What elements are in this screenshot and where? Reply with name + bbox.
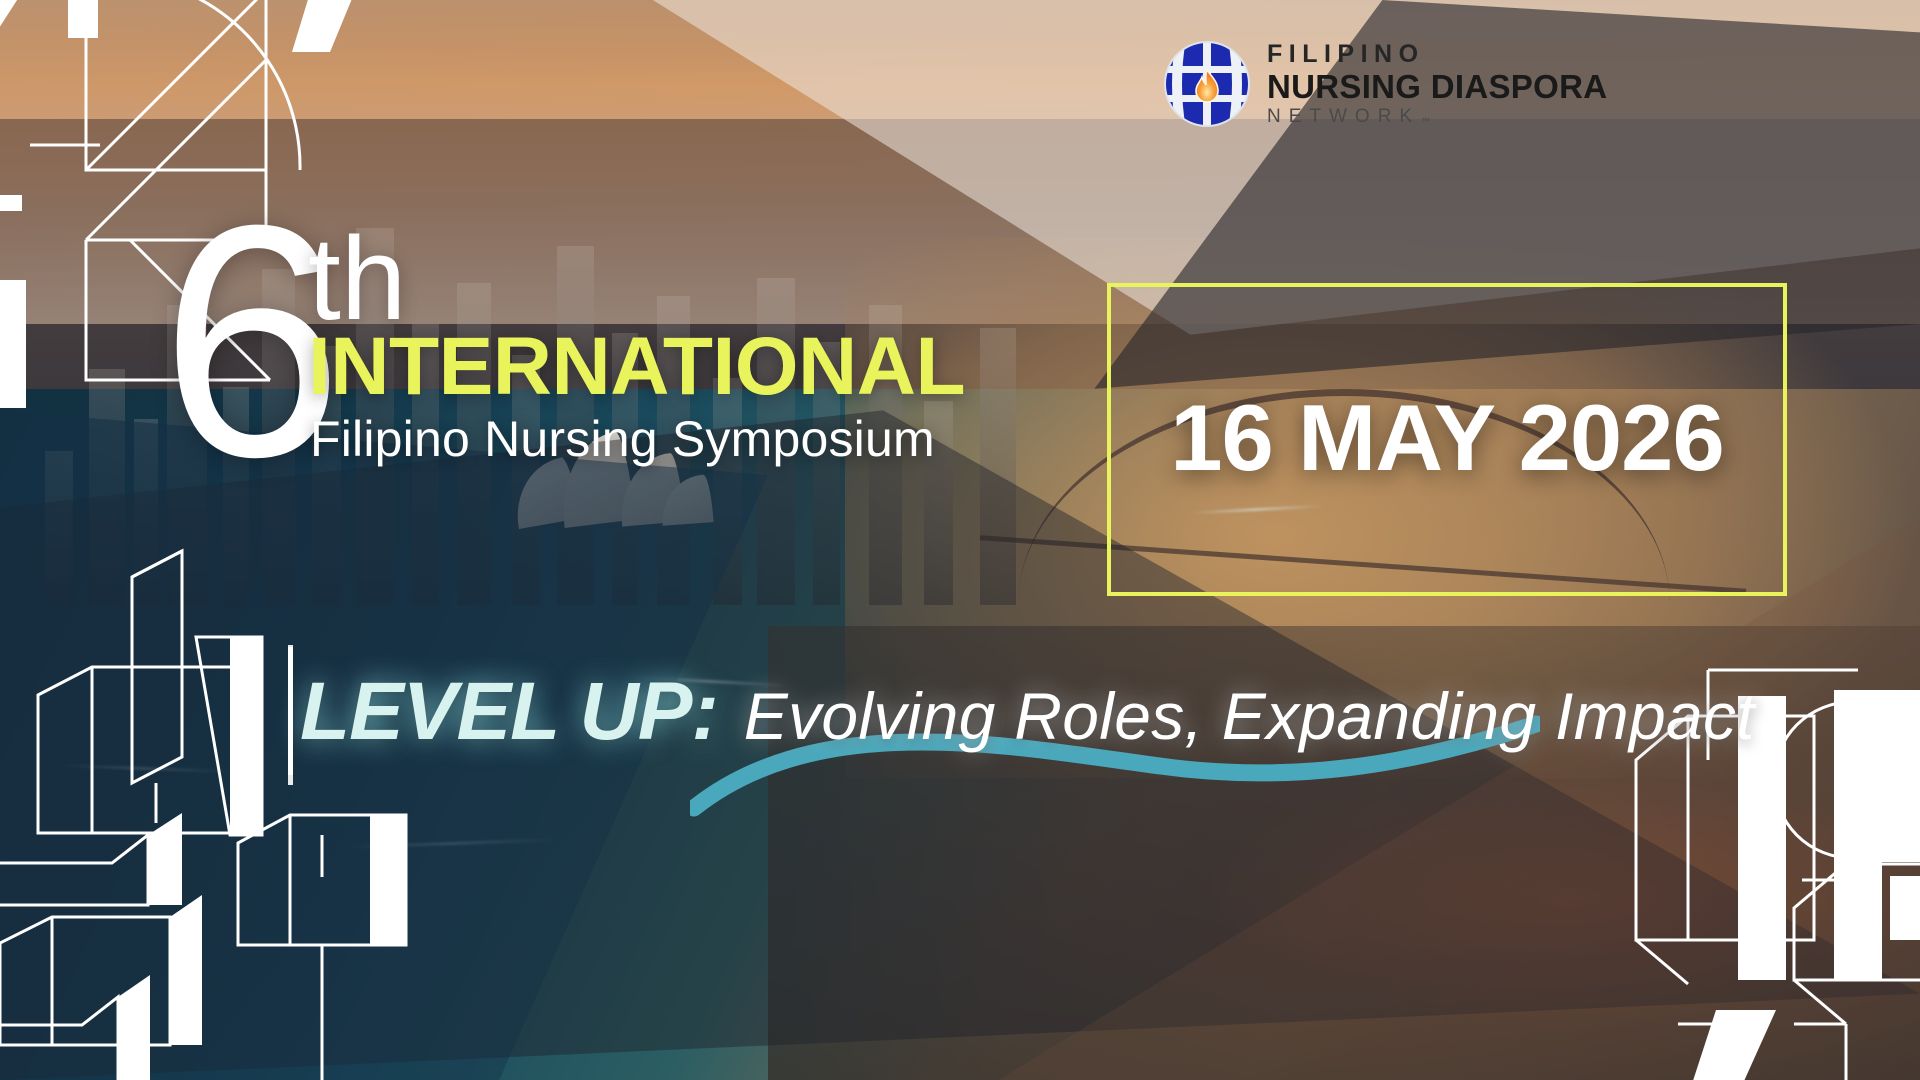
logo-line-filipino: FILIPINO bbox=[1267, 42, 1607, 67]
trademark-symbol: ™ bbox=[1421, 117, 1430, 126]
page-title: INTERNATIONAL bbox=[308, 320, 965, 414]
logo-network-text: NETWORK bbox=[1267, 107, 1420, 126]
logo-line-network: NETWORK™ bbox=[1267, 107, 1607, 126]
event-banner: FILIPINO NURSING DIASPORA NETWORK™ 6 th … bbox=[0, 0, 1920, 1080]
logo-line-nursing-diaspora: NURSING DIASPORA bbox=[1267, 70, 1607, 103]
brand-logo[interactable]: FILIPINO NURSING DIASPORA NETWORK™ bbox=[1163, 40, 1607, 128]
tagline-detail: Evolving Roles, Expanding Impact bbox=[744, 678, 1755, 754]
event-date: 16 MAY 2026 bbox=[1170, 383, 1723, 491]
globe-flame-icon bbox=[1163, 40, 1251, 128]
tagline-lead: LEVEL UP: bbox=[300, 665, 718, 759]
event-tagline: LEVEL UP: Evolving Roles, Expanding Impa… bbox=[300, 665, 1755, 759]
page-subtitle: Filipino Nursing Symposium bbox=[310, 410, 935, 468]
tagline-tick-icon bbox=[288, 647, 293, 775]
event-date-box: 16 MAY 2026 bbox=[1107, 283, 1787, 596]
